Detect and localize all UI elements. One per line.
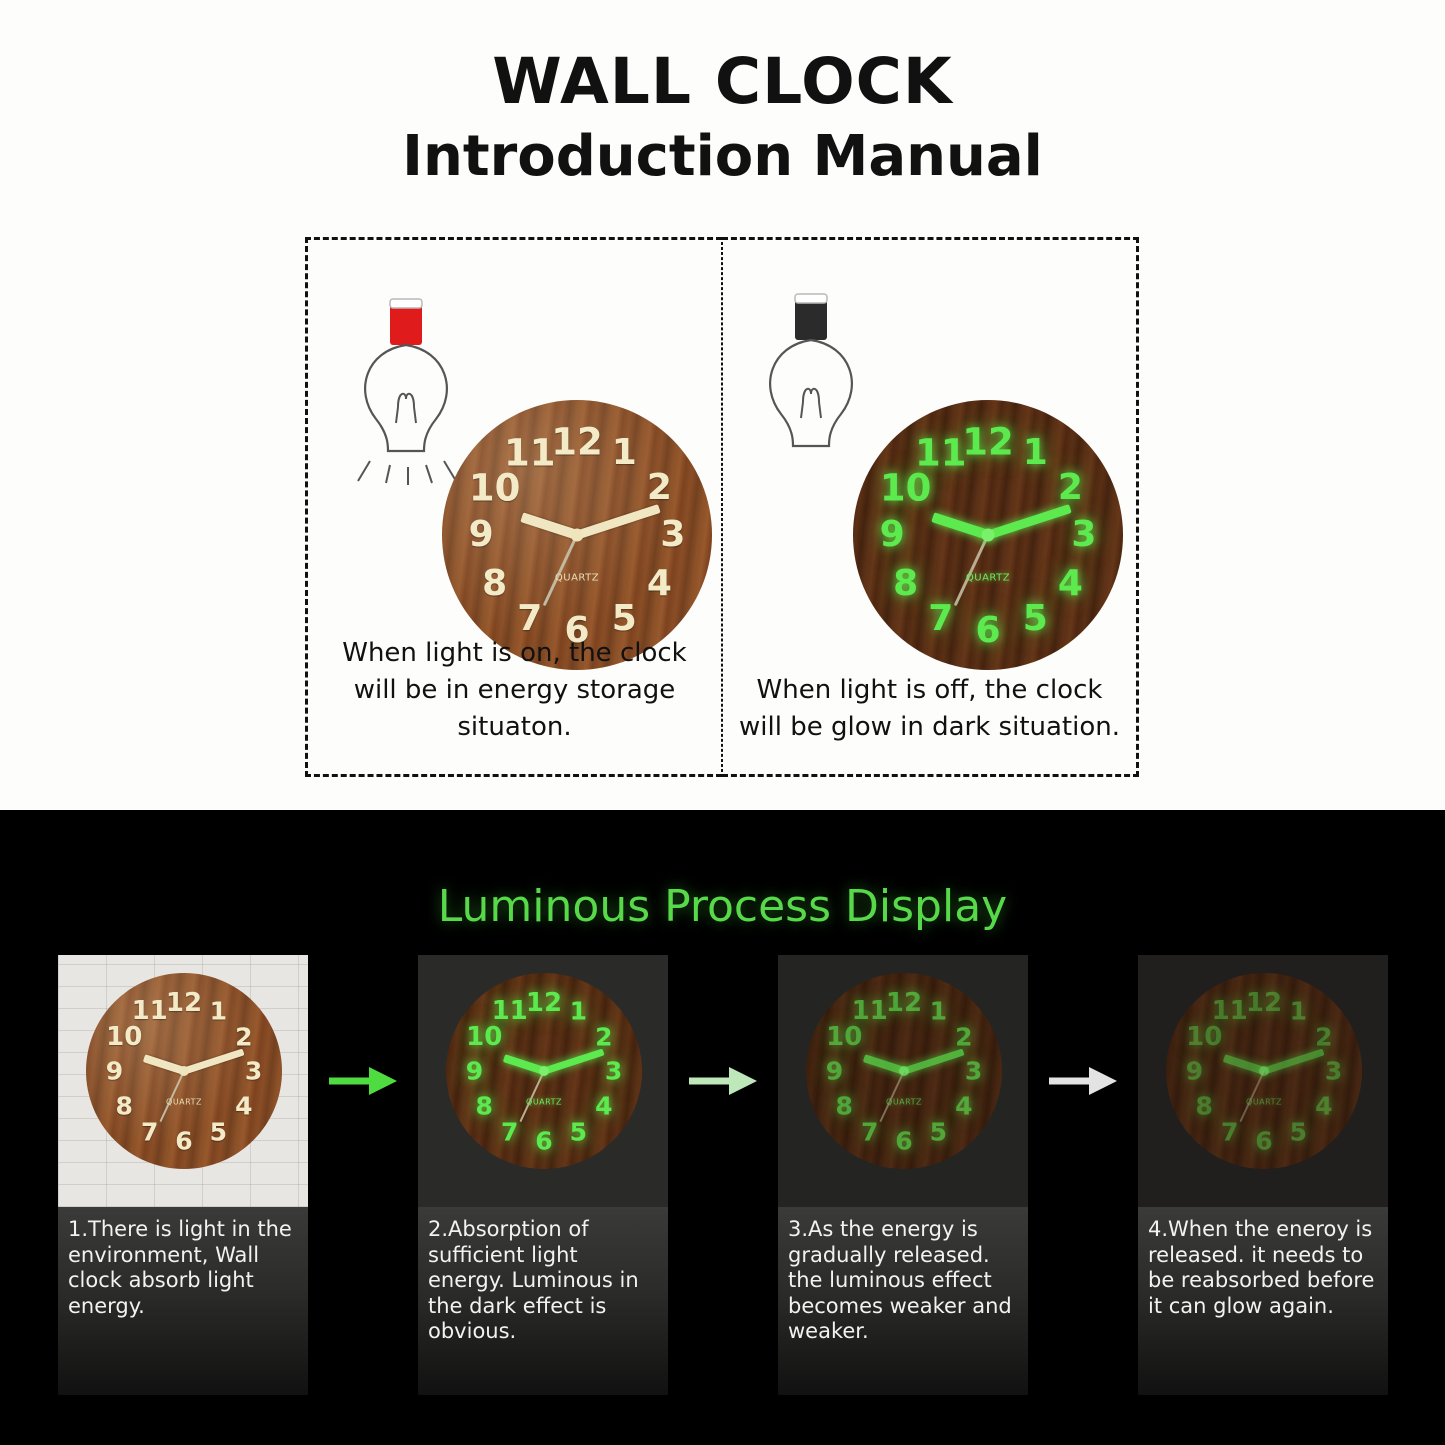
clock-second-hand <box>879 1071 904 1123</box>
page-title: WALL CLOCK <box>0 45 1445 118</box>
top-light-section: WALL CLOCK Introduction Manual <box>0 0 1445 813</box>
clock-face-step4: 12 1 2 3 4 5 6 7 8 9 10 11 <box>1166 973 1362 1169</box>
panel-light-on: 12 1 2 3 4 5 6 7 8 9 10 11 QUARTZ <box>305 237 722 777</box>
clock-number-10: 10 <box>466 1024 502 1050</box>
step-caption-1: 1.There is light in the environment, Wal… <box>58 1207 308 1395</box>
clock-number-3: 3 <box>1325 1059 1342 1084</box>
clock-minute-hand <box>576 504 661 539</box>
step-image-3: 12 1 2 3 4 5 6 7 8 9 10 11 <box>778 955 1028 1207</box>
clock-number-2: 2 <box>1315 1024 1332 1049</box>
process-step-3: 12 1 2 3 4 5 6 7 8 9 10 11 <box>778 955 1028 1395</box>
clock-pivot <box>571 529 584 542</box>
lightbulb-off-icon <box>751 290 841 440</box>
clock-number-2: 2 <box>955 1024 972 1049</box>
clock-number-10: 10 <box>469 469 521 506</box>
clock-number-7: 7 <box>501 1119 518 1144</box>
clock-number-12: 12 <box>962 423 1014 460</box>
arrow-right-icon-1 <box>308 955 418 1207</box>
clock-number-1: 1 <box>1023 435 1048 471</box>
clock-brand-label: QUARTZ <box>555 573 599 584</box>
clock-number-4: 4 <box>647 566 672 602</box>
clock-number-2: 2 <box>647 470 672 506</box>
clock-brand-label: QUARTZ <box>1246 1098 1282 1107</box>
clock-number-9: 9 <box>826 1059 843 1084</box>
clock-number-7: 7 <box>928 601 953 637</box>
page-subtitle: Introduction Manual <box>0 124 1445 189</box>
panel-caption-light-on: When light is on, the clock will be in e… <box>322 635 707 746</box>
clock-number-4: 4 <box>1315 1094 1332 1119</box>
step-image-1: 12 1 2 3 4 5 6 7 8 9 10 11 <box>58 955 308 1207</box>
luminous-process-title: Luminous Process Display <box>0 881 1445 932</box>
clock-face-lit: 12 1 2 3 4 5 6 7 8 9 10 11 QUARTZ <box>442 400 712 670</box>
clock-number-6: 6 <box>175 1128 192 1153</box>
bottom-dark-section: Luminous Process Display 12 1 2 3 4 5 6 … <box>0 813 1445 1445</box>
clock-number-11: 11 <box>852 998 888 1024</box>
clock-number-7: 7 <box>1221 1119 1238 1144</box>
clock-face-step2: 12 1 2 3 4 5 6 7 8 9 10 11 <box>446 973 642 1169</box>
clock-number-12: 12 <box>526 990 562 1016</box>
clock-number-10: 10 <box>826 1024 862 1050</box>
panel-light-off: 12 1 2 3 4 5 6 7 8 9 10 11 QUARTZ <box>722 237 1139 777</box>
clock-number-1: 1 <box>612 435 637 471</box>
clock-number-2: 2 <box>235 1024 252 1049</box>
clock-pivot <box>982 529 995 542</box>
clock-number-8: 8 <box>1196 1094 1213 1119</box>
arrow-right-icon-2 <box>668 955 778 1207</box>
panel-caption-light-off: When light is off, the clock will be glo… <box>737 672 1122 746</box>
clock-pivot <box>179 1066 189 1076</box>
clock-number-1: 1 <box>1290 999 1307 1024</box>
step-caption-4: 4.When the eneroy is released. it needs … <box>1138 1207 1388 1395</box>
clock-number-5: 5 <box>1023 601 1048 637</box>
clock-number-7: 7 <box>517 601 542 637</box>
clock-number-6: 6 <box>895 1128 912 1153</box>
clock-minute-hand <box>903 1049 964 1075</box>
clock-minute-hand <box>987 504 1072 539</box>
clock-brand-label: QUARTZ <box>886 1098 922 1107</box>
clock-number-12: 12 <box>886 990 922 1016</box>
clock-number-11: 11 <box>132 998 168 1024</box>
clock-number-12: 12 <box>1246 990 1282 1016</box>
clock-number-2: 2 <box>1058 470 1083 506</box>
clock-second-hand <box>1239 1071 1264 1123</box>
step-image-4: 12 1 2 3 4 5 6 7 8 9 10 11 <box>1138 955 1388 1207</box>
clock-number-11: 11 <box>492 998 528 1024</box>
clock-number-8: 8 <box>476 1094 493 1119</box>
clock-face-step1: 12 1 2 3 4 5 6 7 8 9 10 11 <box>86 973 282 1169</box>
clock-number-6: 6 <box>535 1128 552 1153</box>
manual-page: WALL CLOCK Introduction Manual <box>0 0 1445 1445</box>
clock-number-8: 8 <box>116 1094 133 1119</box>
clock-number-10: 10 <box>106 1024 142 1050</box>
clock-number-8: 8 <box>836 1094 853 1119</box>
clock-number-9: 9 <box>466 1059 483 1084</box>
clock-pivot <box>1259 1066 1269 1076</box>
clock-number-9: 9 <box>106 1059 123 1084</box>
clock-face-dark: 12 1 2 3 4 5 6 7 8 9 10 11 QUARTZ <box>853 400 1123 670</box>
clock-brand-label: QUARTZ <box>526 1098 562 1107</box>
process-step-1: 12 1 2 3 4 5 6 7 8 9 10 11 <box>58 955 308 1395</box>
clock-second-hand <box>543 534 578 606</box>
clock-minute-hand <box>183 1049 244 1075</box>
clock-number-2: 2 <box>595 1024 612 1049</box>
clock-number-5: 5 <box>930 1119 947 1144</box>
clock-second-hand <box>519 1071 544 1123</box>
clock-number-3: 3 <box>660 517 685 553</box>
clock-number-11: 11 <box>504 434 556 471</box>
clock-number-4: 4 <box>235 1094 252 1119</box>
step-caption-2: 2.Absorption of sufficient light energy.… <box>418 1207 668 1395</box>
clock-number-1: 1 <box>930 999 947 1024</box>
clock-number-7: 7 <box>861 1119 878 1144</box>
step-caption-3: 3.As the energy is gradually released. t… <box>778 1207 1028 1395</box>
clock-minute-hand <box>543 1049 604 1075</box>
clock-number-3: 3 <box>1071 517 1096 553</box>
clock-number-10: 10 <box>1186 1024 1222 1050</box>
clock-number-6: 6 <box>1255 1128 1272 1153</box>
clock-number-12: 12 <box>551 423 603 460</box>
clock-number-3: 3 <box>605 1059 622 1084</box>
clock-brand-label: QUARTZ <box>166 1098 202 1107</box>
process-step-2: 12 1 2 3 4 5 6 7 8 9 10 11 <box>418 955 668 1395</box>
clock-number-9: 9 <box>1186 1059 1203 1084</box>
clock-number-3: 3 <box>965 1059 982 1084</box>
arrow-right-icon-3 <box>1028 955 1138 1207</box>
clock-number-11: 11 <box>915 434 967 471</box>
clock-number-4: 4 <box>955 1094 972 1119</box>
clock-number-8: 8 <box>893 566 918 602</box>
clock-number-12: 12 <box>166 990 202 1016</box>
clock-pivot <box>899 1066 909 1076</box>
clock-pivot <box>539 1066 549 1076</box>
clock-brand-label: QUARTZ <box>966 573 1010 584</box>
clock-number-11: 11 <box>1212 998 1248 1024</box>
clock-second-hand <box>954 534 989 606</box>
clock-number-8: 8 <box>482 566 507 602</box>
clock-number-6: 6 <box>975 613 1000 649</box>
clock-number-7: 7 <box>141 1119 158 1144</box>
clock-minute-hand <box>1263 1049 1324 1075</box>
clock-number-5: 5 <box>570 1119 587 1144</box>
process-steps: 12 1 2 3 4 5 6 7 8 9 10 11 <box>58 955 1388 1395</box>
clock-number-3: 3 <box>245 1059 262 1084</box>
clock-second-hand <box>159 1071 184 1123</box>
clock-number-4: 4 <box>1058 566 1083 602</box>
clock-face-step3: 12 1 2 3 4 5 6 7 8 9 10 11 <box>806 973 1002 1169</box>
step-image-2: 12 1 2 3 4 5 6 7 8 9 10 11 <box>418 955 668 1207</box>
clock-number-5: 5 <box>1290 1119 1307 1144</box>
clock-number-4: 4 <box>595 1094 612 1119</box>
clock-number-10: 10 <box>880 469 932 506</box>
clock-number-1: 1 <box>570 999 587 1024</box>
clock-number-9: 9 <box>880 517 905 553</box>
process-step-4: 12 1 2 3 4 5 6 7 8 9 10 11 <box>1138 955 1388 1395</box>
clock-number-9: 9 <box>469 517 494 553</box>
clock-number-5: 5 <box>210 1119 227 1144</box>
clock-number-1: 1 <box>210 999 227 1024</box>
comparison-panels: 12 1 2 3 4 5 6 7 8 9 10 11 QUARTZ <box>305 237 1140 777</box>
lightbulb-on-icon <box>346 295 436 445</box>
clock-number-5: 5 <box>612 601 637 637</box>
